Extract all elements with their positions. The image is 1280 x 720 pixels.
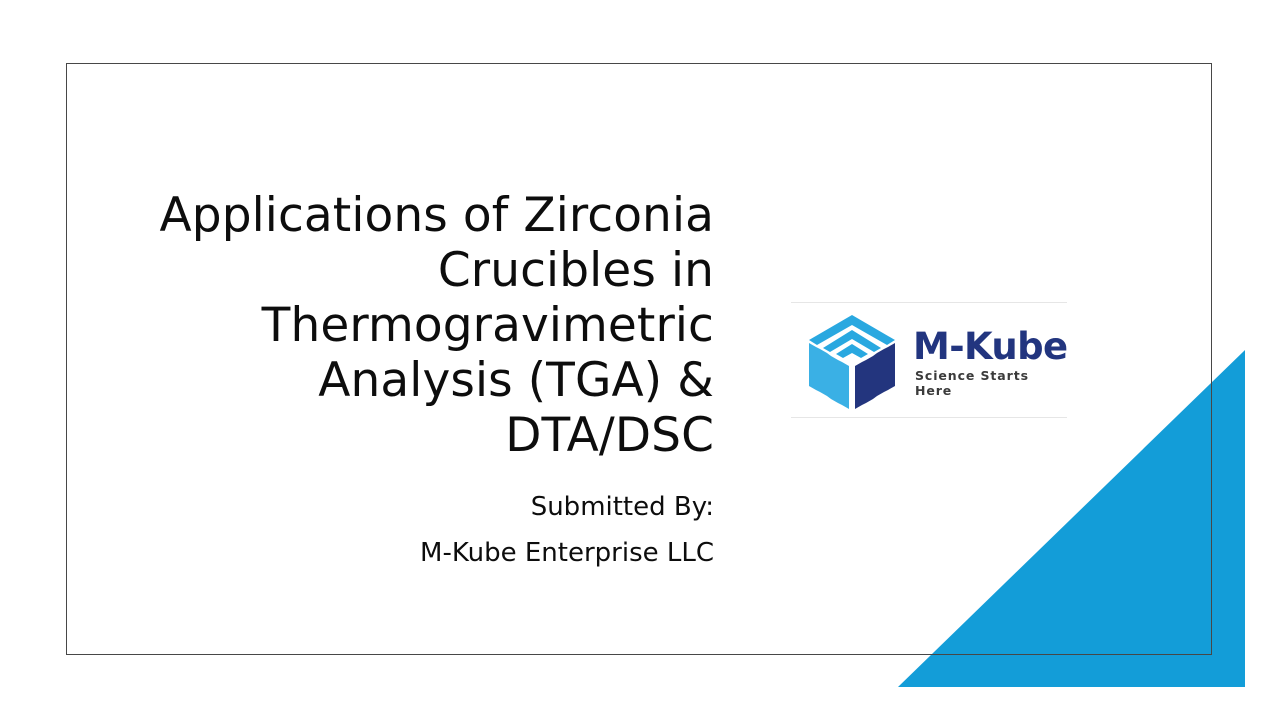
subtitle-line-submitted-by: Submitted By: (90, 484, 714, 530)
logo-brand-name: M-Kube (913, 328, 1069, 366)
company-logo-image: M-Kube Science Starts Here (789, 296, 1069, 422)
title-line-4: Analysis (TGA) & (90, 353, 714, 408)
title-line-1: Applications of Zirconia (90, 188, 714, 243)
logo-rule-bottom (791, 417, 1067, 418)
logo-tagline: Science Starts Here (913, 368, 1069, 398)
slide-canvas: Applications of Zirconia Crucibles in Th… (0, 0, 1280, 720)
cube-icon (799, 307, 905, 413)
title-line-5: DTA/DSC (90, 408, 714, 463)
logo-content: M-Kube Science Starts Here (789, 304, 1069, 416)
title-line-2: Crucibles in (90, 243, 714, 298)
logo-rule-top (791, 302, 1067, 303)
subtitle-line-company: M-Kube Enterprise LLC (90, 530, 714, 576)
slide-subtitle: Submitted By: M-Kube Enterprise LLC (90, 484, 714, 576)
title-line-3: Thermogravimetric (90, 298, 714, 353)
logo-wordmark: M-Kube Science Starts Here (913, 322, 1069, 398)
page-title: Applications of Zirconia Crucibles in Th… (90, 188, 714, 463)
